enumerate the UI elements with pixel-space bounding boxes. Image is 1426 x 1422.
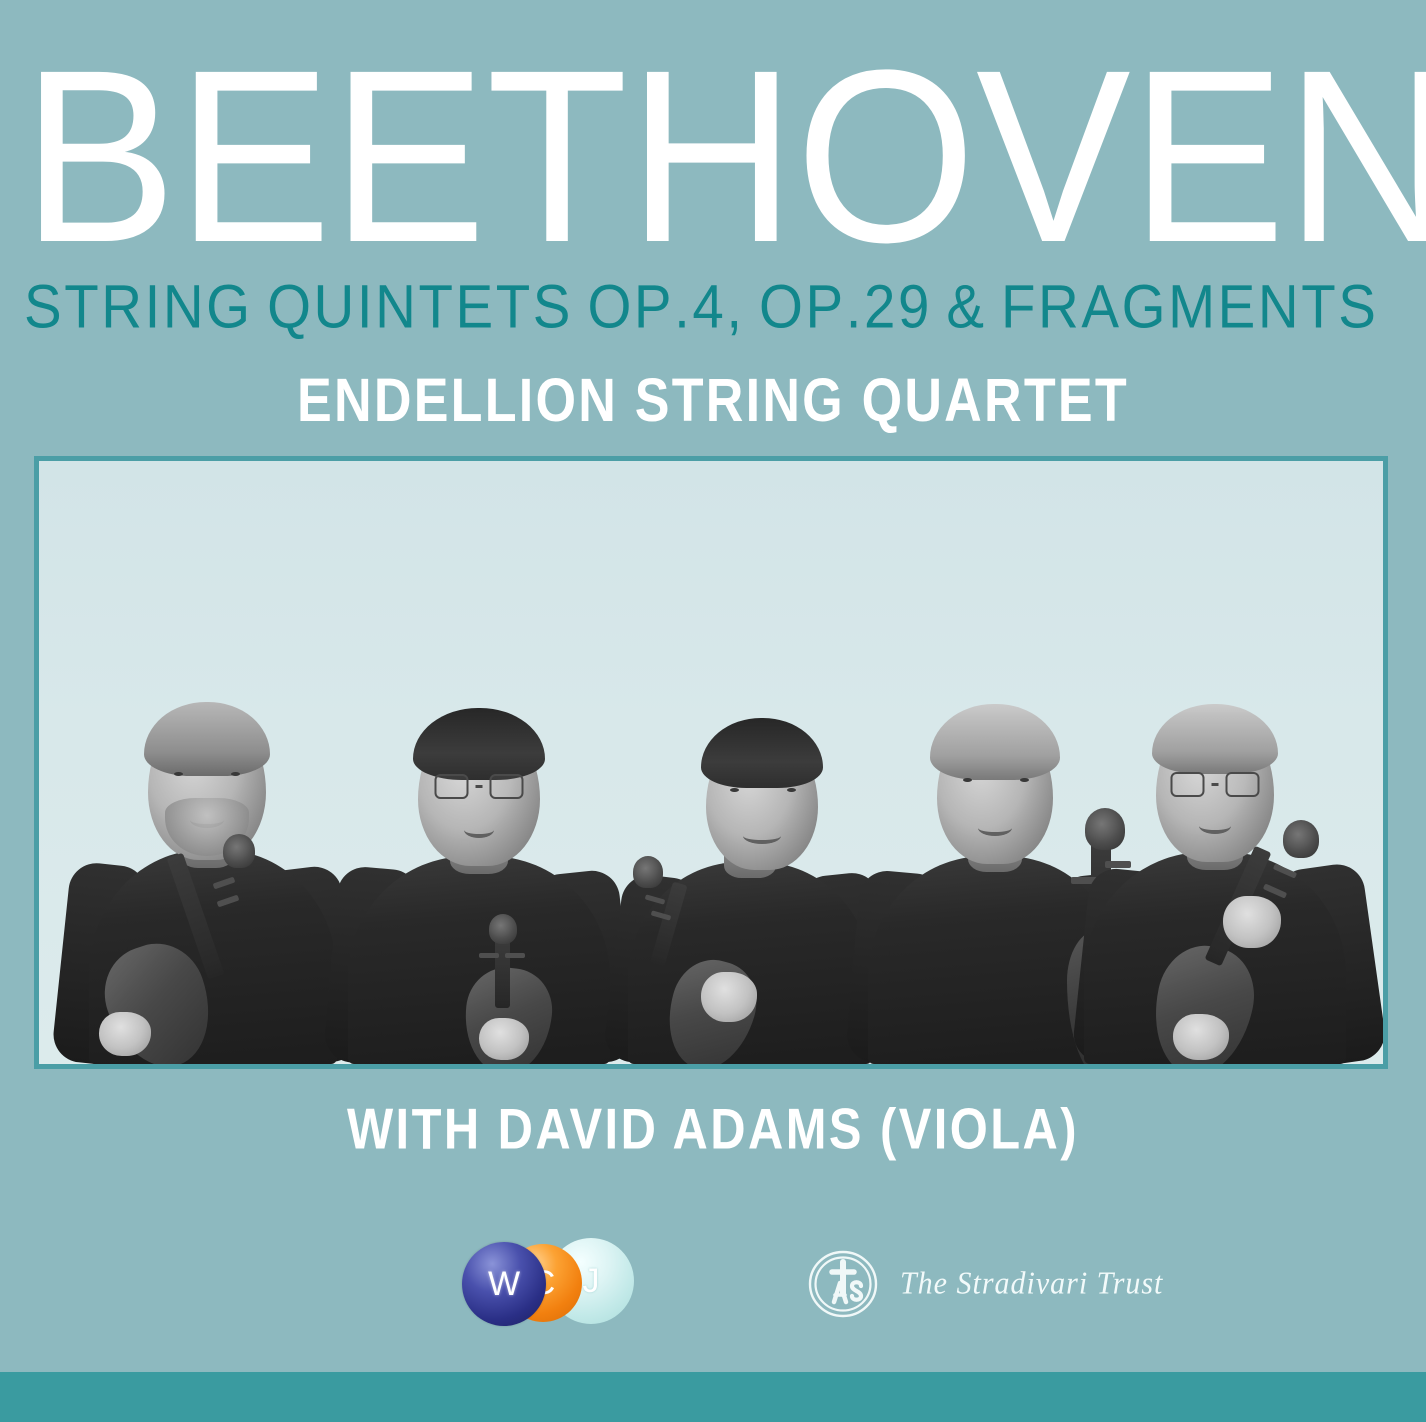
title-letter: O [796, 46, 976, 269]
subtitle-letter: P [806, 278, 844, 336]
subtitle-letter: , [726, 278, 742, 336]
subtitle-letter: . [846, 278, 862, 336]
title-letter: E [332, 46, 487, 269]
subtitle-letter: Q [267, 278, 311, 336]
subtitle-letter: N [1258, 278, 1299, 336]
subtitle-letter: T [1301, 278, 1335, 336]
title-letter: T [486, 46, 628, 269]
subtitle-letter: E [1218, 278, 1256, 336]
subtitle-letter: F [1001, 278, 1035, 336]
subtitle-letter: T [64, 278, 98, 336]
subtitle-letter: E [456, 278, 494, 336]
logo-row: W C J The Stradivari Tr [0, 1232, 1426, 1342]
subtitle-letter: S [24, 278, 62, 336]
wcj-letter-w: W [488, 1267, 520, 1301]
musician-figure [1077, 772, 1377, 1064]
subtitle-letter: G [206, 278, 250, 336]
subtitle-space [745, 278, 757, 336]
subtitle-letter: & [946, 278, 984, 336]
musician-head [418, 718, 540, 866]
musician-head [706, 730, 818, 870]
subtitle-space [573, 278, 585, 336]
wcj-letter-j: J [583, 1264, 600, 1298]
stradivari-monogram-icon [804, 1245, 882, 1323]
guest-artist-line: WITH DAVID ADAMS (VIOLA) [43, 1098, 1383, 1162]
subtitle-letter: U [314, 278, 355, 336]
glasses-icon [1171, 772, 1260, 797]
subtitle-letter: T [496, 278, 530, 336]
subtitle-letter: 4 [692, 278, 723, 336]
title-letter: V [976, 46, 1131, 269]
subtitle-letter: O [587, 278, 631, 336]
subtitle-letter: I [145, 278, 161, 336]
stradivari-trust-logo: The Stradivari Trust [804, 1238, 1184, 1330]
subtitle-space [253, 278, 265, 336]
subtitle-letter: S [1338, 278, 1376, 336]
subtitle-space [932, 278, 944, 336]
subtitle-letter: O [759, 278, 803, 336]
musician-figure [57, 769, 357, 1064]
title-letter: E [1131, 46, 1286, 269]
subtitle-letter: A [1081, 278, 1119, 336]
subtitle-letter: R [101, 278, 142, 336]
subtitle-letter: I [357, 278, 373, 336]
subtitle-letter: G [1122, 278, 1166, 336]
subtitle-letter: . [674, 278, 690, 336]
subtitle-letter: 2 [864, 278, 895, 336]
musician-figure [329, 778, 629, 1064]
subtitle-space [987, 278, 999, 336]
title-letter: B [22, 46, 177, 269]
glasses-icon [435, 774, 524, 799]
subtitle-letter: N [375, 278, 416, 336]
subtitle-letter: M [1168, 278, 1215, 336]
subtitle-letter: P [634, 278, 672, 336]
subtitle-letter: N [163, 278, 204, 336]
performer-name: ENDELLION STRING QUARTET [50, 366, 1376, 434]
title-letter: N [1285, 46, 1426, 269]
musician-head [937, 718, 1053, 864]
musician-head [1156, 714, 1274, 862]
subtitle-letter: 9 [898, 278, 929, 336]
subtitle-letter: S [533, 278, 571, 336]
title-letter: E [177, 46, 332, 269]
album-title: B E E T H O V E N [22, 46, 1390, 269]
ensemble-photo [39, 461, 1383, 1064]
title-letter: H [628, 46, 796, 269]
album-cover: B E E T H O V E N S T R I N G Q U I N T … [0, 0, 1426, 1422]
bottom-color-band [0, 1372, 1426, 1422]
ensemble-photo-frame [34, 456, 1388, 1069]
stradivari-trust-name: The Stradivari Trust [900, 1266, 1163, 1302]
subtitle-letter: R [1038, 278, 1079, 336]
subtitle-letter: T [418, 278, 452, 336]
wcj-sphere-w: W [462, 1242, 546, 1326]
wcj-logo: W C J [462, 1234, 616, 1330]
album-subtitle: S T R I N G Q U I N T E T S O P . 4 , O … [24, 278, 1376, 336]
